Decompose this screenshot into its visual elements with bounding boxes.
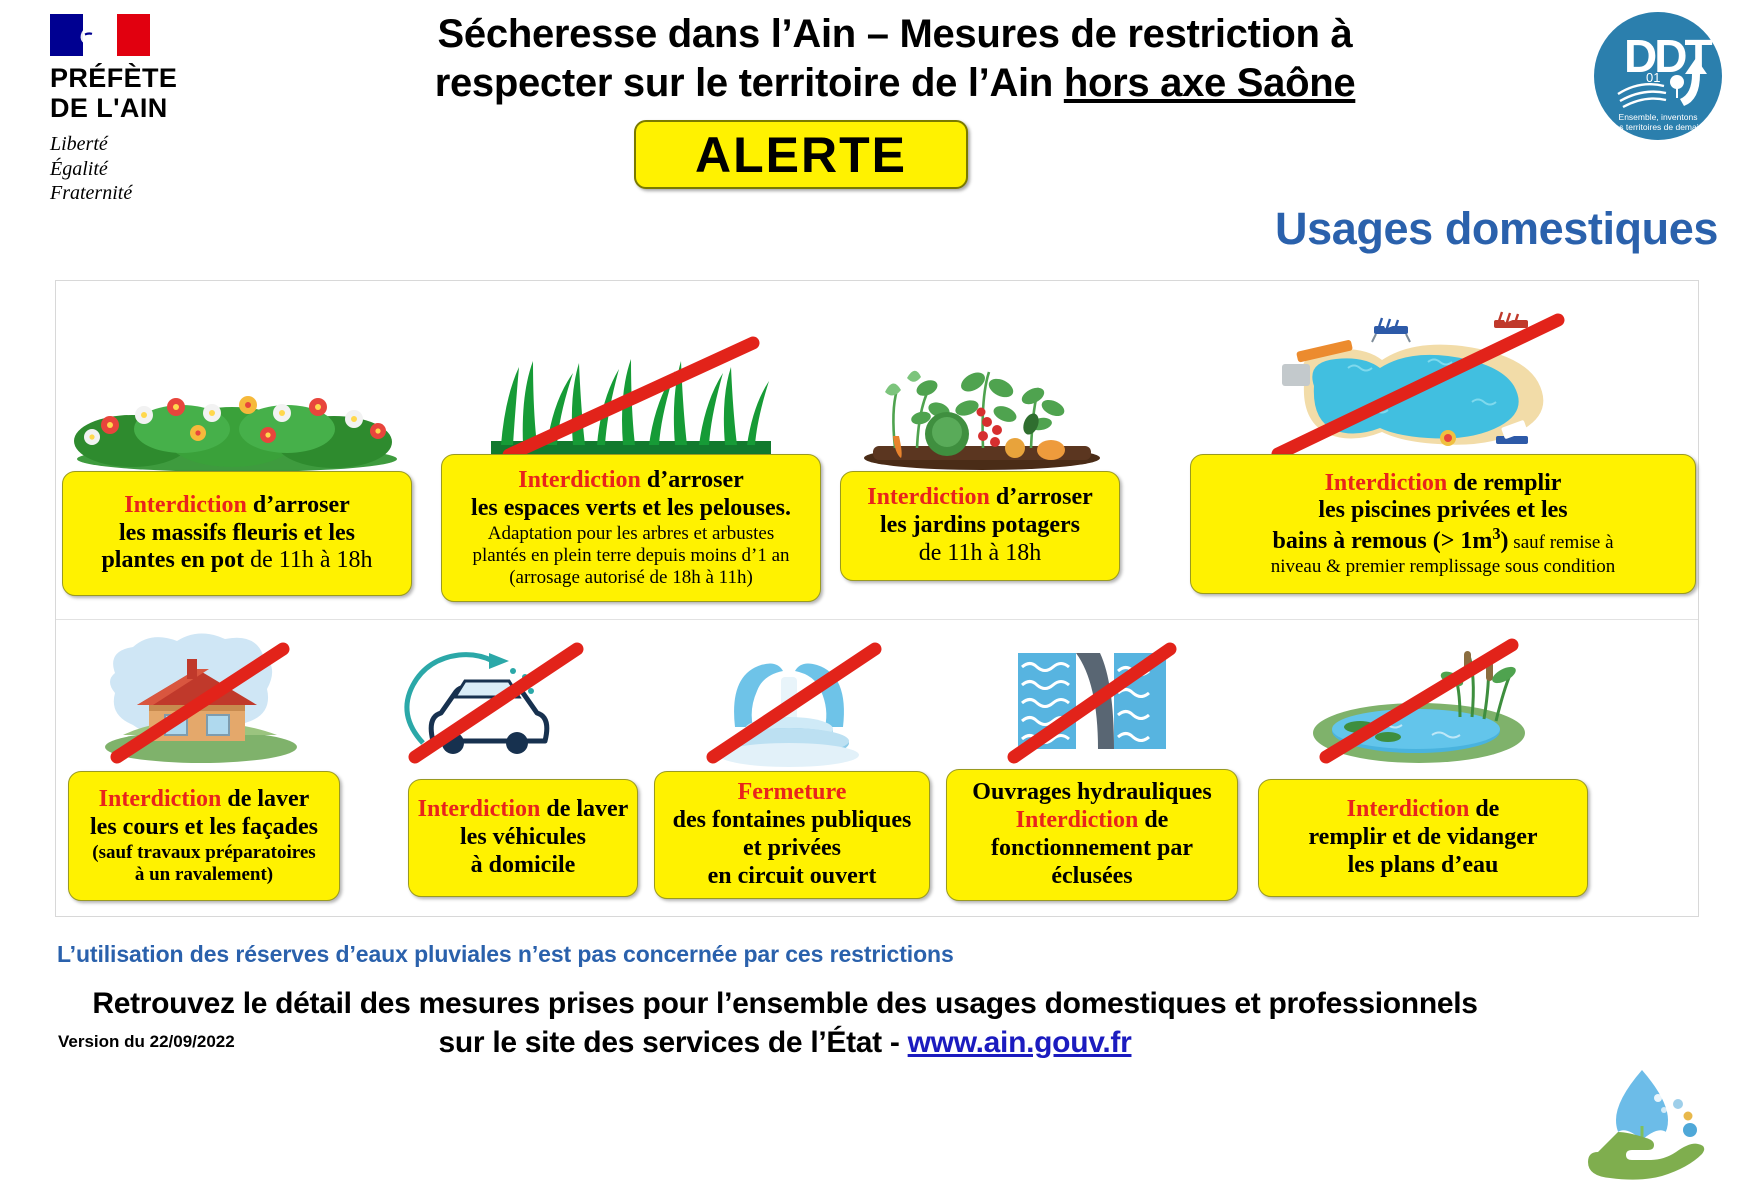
badge-fine-3: (arrosage autorisé de 18h à 11h) — [509, 567, 753, 589]
badge-keyword: Interdiction — [99, 786, 222, 812]
cta-line-2: sur le site des services de l’État - www… — [70, 1023, 1500, 1062]
badge-line-1-rest: d’arroser — [641, 467, 744, 493]
website-link[interactable]: www.ain.gouv.fr — [908, 1026, 1132, 1059]
measures-panel: Interdiction d’arroser les massifs fleur… — [55, 280, 1699, 917]
section-title: Usages domestiques — [1275, 203, 1718, 255]
ddt-tagline-line-1: Ensemble, inventons — [1619, 112, 1698, 122]
car-wash-crossed-icon — [385, 631, 605, 771]
cta-line-1: Retrouvez le détail des mesures prises p… — [70, 984, 1500, 1023]
badge-keyword: Interdiction — [867, 484, 990, 510]
prefecture-line-1: PRÉFÈTE — [50, 63, 232, 93]
footer-call-to-action: Retrouvez le détail des mesures prises p… — [70, 984, 1500, 1062]
badge-line-3: les plans d’eau — [1348, 852, 1499, 880]
badge-line-1-rest: de remplir — [1447, 470, 1561, 496]
row-divider — [56, 619, 1698, 620]
title-line-2-underlined: hors axe Saône — [1064, 61, 1355, 105]
badge-line-1: Interdiction de laver — [99, 786, 310, 814]
measure-card-lawns: Interdiction d’arroser les espaces verts… — [441, 281, 821, 619]
badge-fine-1: Adaptation pour les arbres et arbustes — [488, 523, 775, 545]
badge-line-1: Interdiction de laver — [418, 796, 629, 824]
measure-card-facades: Interdiction de laver les cours et les f… — [56, 621, 346, 918]
badge-line-2: fonctionnement par — [991, 835, 1193, 863]
badge-line-2: les cours et les façades — [90, 814, 318, 842]
ddt-logo-icon: DDT 01 Ensemble, inventons les territoir… — [1592, 10, 1724, 142]
badge-line-1-rest: de — [1138, 807, 1168, 833]
badge-line-2: des fontaines publiques — [673, 807, 912, 835]
measure-card-vehicles: Interdiction de laver les véhicules à do… — [352, 621, 638, 918]
dam-lock-crossed-icon — [992, 631, 1192, 771]
badge-line-2: les massifs fleuris et les — [119, 520, 355, 548]
badge-keyword: Interdiction — [418, 796, 541, 822]
dam-illustration — [942, 621, 1242, 771]
badge-line-2: remplir et de vidanger — [1308, 824, 1537, 852]
cta-line-2-prefix: sur le site des services de l’État - — [439, 1026, 908, 1059]
badge-line-1-rest: de laver — [221, 786, 309, 812]
alert-level-badge: ALERTE — [634, 120, 968, 189]
badge-fine-2: plantés en plein terre depuis moins d’1 … — [472, 545, 789, 567]
badge-line-2: les véhicules — [460, 824, 586, 852]
vegetable-garden-illustration — [842, 281, 1122, 471]
page-header: PRÉFÈTE DE L'AIN Liberté Égalité Fratern… — [0, 0, 1754, 275]
badge-line-3: éclusées — [1051, 863, 1132, 891]
ddt-tagline-line-2: les territoires de demain — [1613, 122, 1704, 132]
motto-egalite: Égalité — [50, 157, 232, 181]
measure-badge-water-bodies: Interdiction de remplir et de vidanger l… — [1258, 779, 1588, 897]
republic-motto: Liberté Égalité Fraternité — [50, 132, 232, 205]
badge-line-1: Interdiction de remplir — [1325, 470, 1562, 498]
alert-level-label: ALERTE — [695, 130, 907, 180]
badge-line-3-bold: bains à remous (> 1m3) — [1272, 528, 1508, 554]
badge-keyword: Interdiction — [1016, 807, 1139, 833]
prefecture-line-2: DE L'AIN — [50, 93, 232, 123]
french-flag-marianne-icon — [50, 14, 150, 56]
badge-keyword: Interdiction — [1325, 470, 1448, 496]
motto-liberte: Liberté — [50, 132, 232, 156]
title-line-2-plain: respecter sur le territoire de l’Ain — [435, 61, 1064, 105]
badge-line-3: bains à remous (> 1m3) sauf remise à — [1272, 525, 1613, 556]
badge-line-3: et privées — [743, 835, 841, 863]
badge-line-1-rest: de — [1469, 796, 1499, 822]
house-facade-crossed-icon — [91, 631, 311, 771]
measure-card-flower-beds: Interdiction d’arroser les massifs fleur… — [56, 281, 418, 619]
measure-card-hydraulic-works: Ouvrages hydrauliques Interdiction de fo… — [942, 621, 1242, 918]
main-title-text: Sécheresse dans l’Ain – Mesures de restr… — [250, 10, 1540, 108]
badge-line-1: Interdiction d’arroser — [867, 484, 1093, 512]
pond-water-body-crossed-icon — [1304, 631, 1534, 771]
water-drop-in-hand-icon — [1584, 1064, 1714, 1182]
measure-card-fountains: Fermeture des fontaines publiques et pri… — [648, 621, 930, 918]
badge-line-1: Interdiction d’arroser — [518, 467, 744, 495]
measure-badge-vegetable-gardens: Interdiction d’arroser les jardins potag… — [840, 471, 1120, 581]
badge-line-4: en circuit ouvert — [708, 863, 877, 891]
svg-text:01: 01 — [1646, 70, 1660, 85]
measure-badge-flower-beds: Interdiction d’arroser les massifs fleur… — [62, 471, 412, 596]
measure-badge-lawns: Interdiction d’arroser les espaces verts… — [441, 454, 821, 602]
vegetable-garden-icon — [855, 326, 1110, 471]
prefecture-name: PRÉFÈTE DE L'AIN — [50, 63, 232, 123]
badge-line-1-rest: d’arroser — [990, 484, 1093, 510]
badge-line-2: les jardins potagers — [880, 512, 1080, 540]
badge-keyword: Interdiction — [1347, 796, 1470, 822]
version-stamp: Version du 22/09/2022 — [58, 1032, 235, 1052]
badge-line-1-rest: d’arroser — [247, 492, 350, 518]
badge-line-2: les espaces verts et les pelouses. — [471, 495, 791, 523]
badge-line-3-rest: sauf remise à — [1509, 532, 1614, 553]
page-title: Sécheresse dans l’Ain – Mesures de restr… — [250, 10, 1540, 108]
measure-badge-hydraulic-works: Ouvrages hydrauliques Interdiction de fo… — [946, 769, 1238, 901]
badge-keyword: Fermeture — [738, 779, 847, 805]
badge-line-1: Fermeture — [738, 779, 847, 807]
badge-line-3: à domicile — [471, 852, 576, 880]
measure-badge-facades: Interdiction de laver les cours et les f… — [68, 771, 340, 901]
badge-line-3: plantes en pot de 11h à 18h — [101, 547, 372, 575]
badge-line-1: Interdiction de — [1016, 807, 1169, 835]
badge-line-2: les piscines privées et les — [1318, 497, 1567, 525]
swimming-pool-crossed-icon — [1252, 306, 1582, 466]
badge-line-1: Interdiction de — [1347, 796, 1500, 824]
badge-line-1: Interdiction d’arroser — [124, 492, 350, 520]
rainwater-note: L’utilisation des réserves d’eaux pluvia… — [57, 941, 954, 968]
badge-pretitle: Ouvrages hydrauliques — [972, 779, 1211, 807]
measure-card-vegetable-gardens: Interdiction d’arroser les jardins potag… — [842, 281, 1122, 619]
flower-bed-illustration — [56, 281, 418, 471]
motto-fraternite: Fraternité — [50, 181, 232, 205]
prefecture-logo: PRÉFÈTE DE L'AIN Liberté Égalité Fratern… — [42, 14, 232, 206]
measure-card-water-bodies: Interdiction de remplir et de vidanger l… — [1246, 621, 1591, 918]
pond-illustration — [1246, 621, 1591, 771]
fountain-illustration — [648, 621, 930, 771]
measure-badge-vehicles: Interdiction de laver les véhicules à do… — [408, 779, 638, 897]
lawn-grass-crossed-icon — [481, 321, 781, 466]
pool-illustration — [1134, 281, 1700, 466]
title-line-2: respecter sur le territoire de l’Ain hor… — [250, 59, 1540, 108]
badge-fine-2: à un ravalement) — [135, 864, 273, 886]
badge-keyword: Interdiction — [518, 467, 641, 493]
marianne-profile-icon — [68, 17, 132, 54]
badge-line-1-rest: de laver — [540, 796, 628, 822]
badge-fine-1: niveau & premier remplissage sous condit… — [1271, 556, 1616, 578]
badge-line-3-bold: plantes en pot — [101, 547, 244, 573]
badge-keyword: Interdiction — [124, 492, 247, 518]
lawn-illustration — [441, 281, 821, 466]
measure-card-swimming-pools: Interdiction de remplir les piscines pri… — [1134, 281, 1700, 619]
measure-badge-swimming-pools: Interdiction de remplir les piscines pri… — [1190, 454, 1696, 594]
badge-fine-1: (sauf travaux préparatoires — [92, 842, 315, 864]
badge-line-3-rest: de 11h à 18h — [244, 547, 372, 573]
flower-bed-icon — [72, 341, 402, 471]
measure-badge-fountains: Fermeture des fontaines publiques et pri… — [654, 771, 930, 899]
fountain-crossed-icon — [679, 631, 899, 771]
badge-line-3: de 11h à 18h — [919, 540, 1041, 568]
house-illustration — [56, 621, 346, 771]
car-wash-illustration — [352, 621, 638, 771]
title-line-1: Sécheresse dans l’Ain – Mesures de restr… — [250, 10, 1540, 59]
